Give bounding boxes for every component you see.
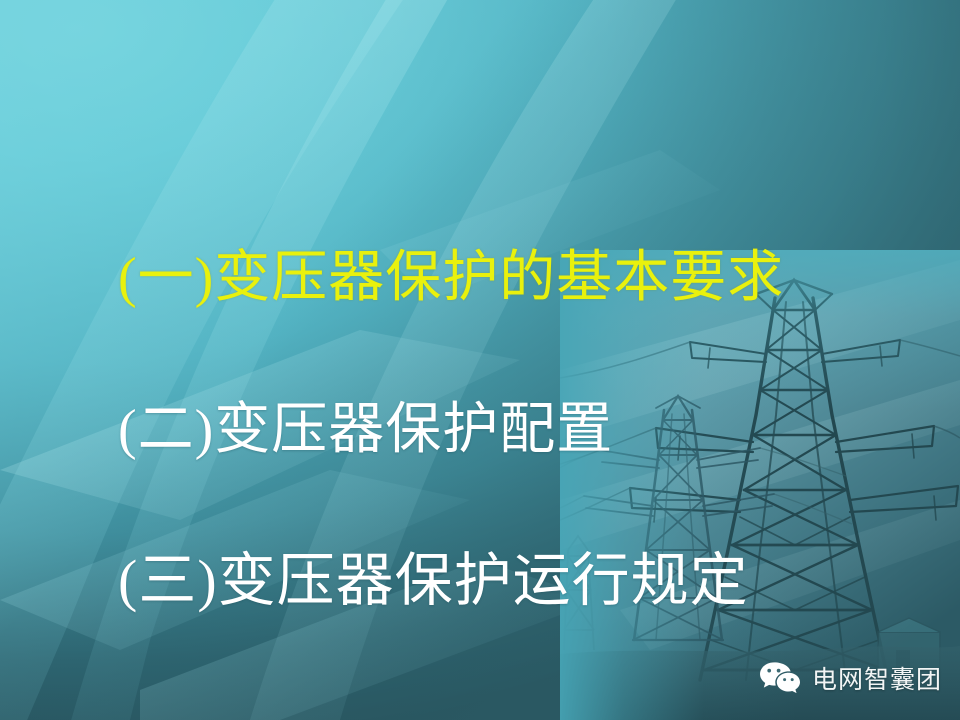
agenda-item-1: (一)变压器保护的基本要求 bbox=[118, 250, 784, 306]
presentation-slide: (一)变压器保护的基本要求 (二)变压器保护配置 (三)变压器保护运行规定 电网… bbox=[0, 0, 960, 720]
watermark-label: 电网智囊团 bbox=[812, 660, 942, 696]
watermark: 电网智囊团 bbox=[758, 660, 942, 696]
wechat-icon bbox=[758, 660, 802, 696]
slide-agenda-list: (一)变压器保护的基本要求 (二)变压器保护配置 (三)变压器保护运行规定 bbox=[0, 0, 960, 720]
agenda-item-3: (三)变压器保护运行规定 bbox=[118, 552, 749, 610]
agenda-item-2: (二)变压器保护配置 bbox=[118, 402, 613, 458]
